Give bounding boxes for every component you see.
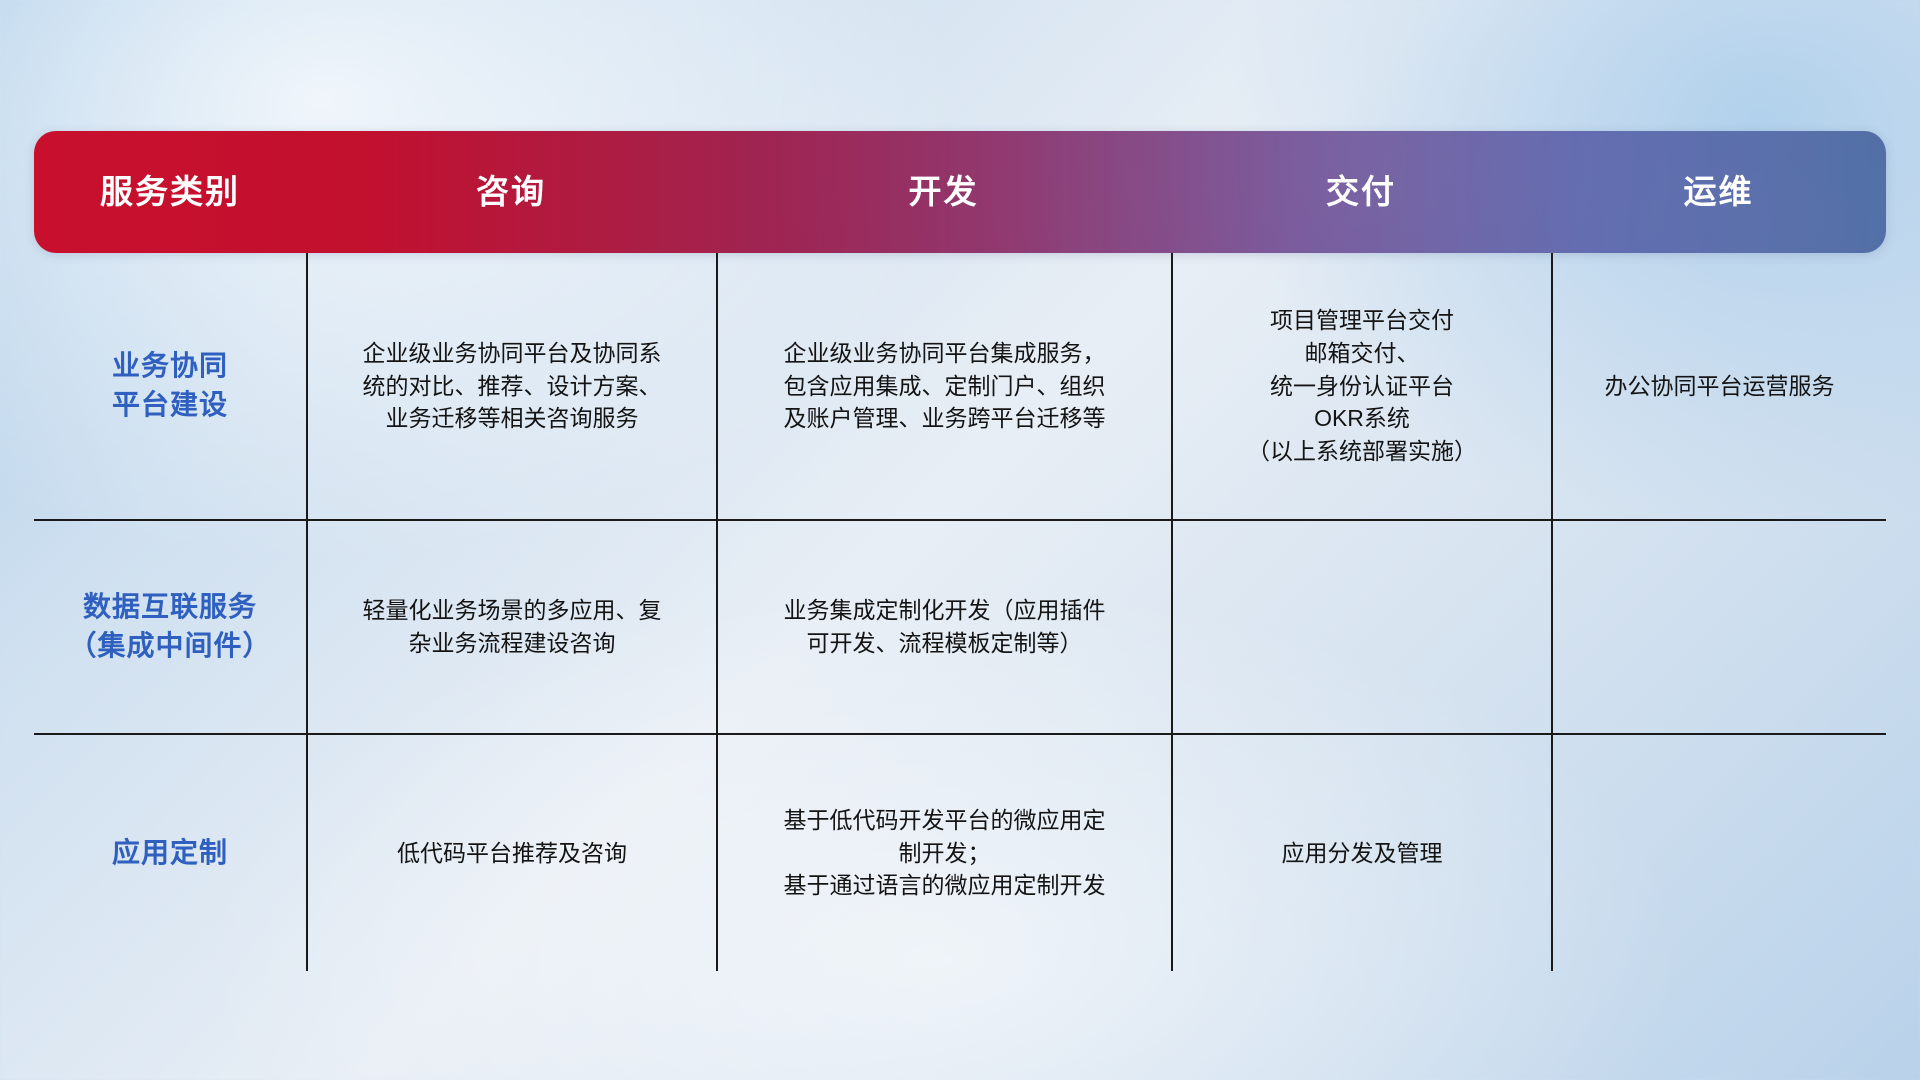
cell-consulting: 低代码平台推荐及咨询 — [306, 735, 716, 971]
cell-operations: 办公协同平台运营服务 — [1551, 253, 1886, 519]
table-row: 数据互联服务 （集成中间件） 轻量化业务场景的多应用、复 杂业务流程建设咨询 业… — [34, 521, 1886, 735]
table-header-cell-delivery: 交付 — [1171, 172, 1551, 212]
table-header-row: 服务类别 咨询 开发 交付 运维 — [34, 131, 1886, 253]
cell-consulting: 企业级业务协同平台及协同系 统的对比、推荐、设计方案、 业务迁移等相关咨询服务 — [306, 253, 716, 519]
table-header-cell-service-category: 服务类别 — [34, 172, 306, 212]
row-category-label: 数据互联服务 （集成中间件） — [34, 521, 306, 733]
cell-delivery — [1171, 521, 1551, 733]
cell-delivery: 项目管理平台交付 邮箱交付、 统一身份认证平台 OKR系统 （以上系统部署实施） — [1171, 253, 1551, 519]
cell-operations — [1551, 521, 1886, 733]
row-category-label: 业务协同 平台建设 — [34, 253, 306, 519]
table-body: 业务协同 平台建设 企业级业务协同平台及协同系 统的对比、推荐、设计方案、 业务… — [34, 253, 1886, 971]
cell-consulting: 轻量化业务场景的多应用、复 杂业务流程建设咨询 — [306, 521, 716, 733]
cell-delivery: 应用分发及管理 — [1171, 735, 1551, 971]
cell-development: 基于低代码开发平台的微应用定 制开发； 基于通过语言的微应用定制开发 — [716, 735, 1171, 971]
table-header-cell-operations: 运维 — [1551, 172, 1886, 212]
table-header-cell-consulting: 咨询 — [306, 172, 716, 212]
service-matrix-table: 服务类别 咨询 开发 交付 运维 业务协同 平台建设 企业级业务协同平台及协同系… — [34, 131, 1886, 947]
table-row: 业务协同 平台建设 企业级业务协同平台及协同系 统的对比、推荐、设计方案、 业务… — [34, 253, 1886, 521]
table-row: 应用定制 低代码平台推荐及咨询 基于低代码开发平台的微应用定 制开发； 基于通过… — [34, 735, 1886, 971]
cell-operations — [1551, 735, 1886, 971]
cell-development: 企业级业务协同平台集成服务， 包含应用集成、定制门户、组织 及账户管理、业务跨平… — [716, 253, 1171, 519]
row-category-label: 应用定制 — [34, 735, 306, 971]
table-header-cell-development: 开发 — [716, 172, 1171, 212]
cell-development: 业务集成定制化开发（应用插件 可开发、流程模板定制等） — [716, 521, 1171, 733]
